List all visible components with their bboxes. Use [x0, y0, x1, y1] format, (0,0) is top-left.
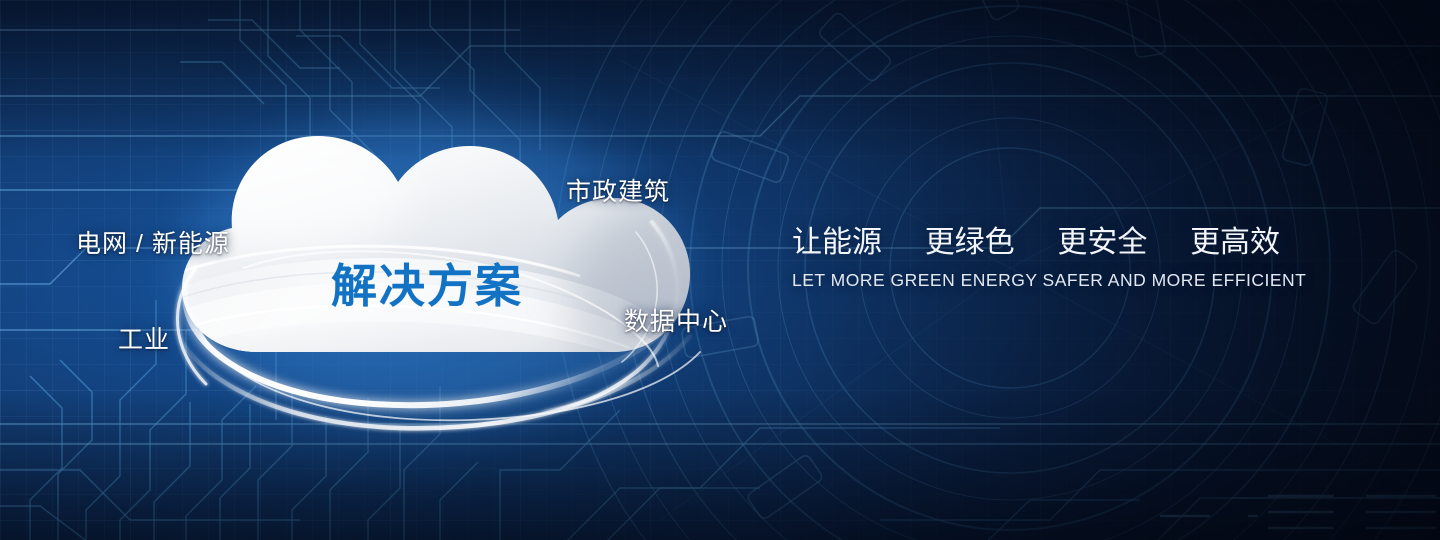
- slogan-part-4: 更高效: [1190, 222, 1280, 264]
- slogan-part-3: 更安全: [1057, 222, 1147, 264]
- slogan-block: 让能源 更绿色 更安全 更高效 LET MORE GREEN ENERGY SA…: [792, 222, 1332, 291]
- solution-banner: 电网 / 新能源 工业 市政建筑 数据中心 解决方案 让能源 更绿色 更安全 更…: [0, 0, 1440, 540]
- cloud-label-data-center: 数据中心: [624, 302, 728, 338]
- slogan-part-2: 更绿色: [925, 222, 1015, 264]
- solution-title: 解决方案: [331, 250, 523, 316]
- slogan-part-1: 让能源: [792, 222, 882, 264]
- slogan-chinese: 让能源 更绿色 更安全 更高效: [792, 222, 1332, 264]
- cloud-label-grid-new-energy: 电网 / 新能源: [76, 224, 230, 260]
- slogan-english: LET MORE GREEN ENERGY SAFER AND MORE EFF…: [792, 270, 1332, 291]
- cloud-label-industry: 工业: [118, 320, 170, 356]
- cloud-label-civic-building: 市政建筑: [566, 172, 670, 208]
